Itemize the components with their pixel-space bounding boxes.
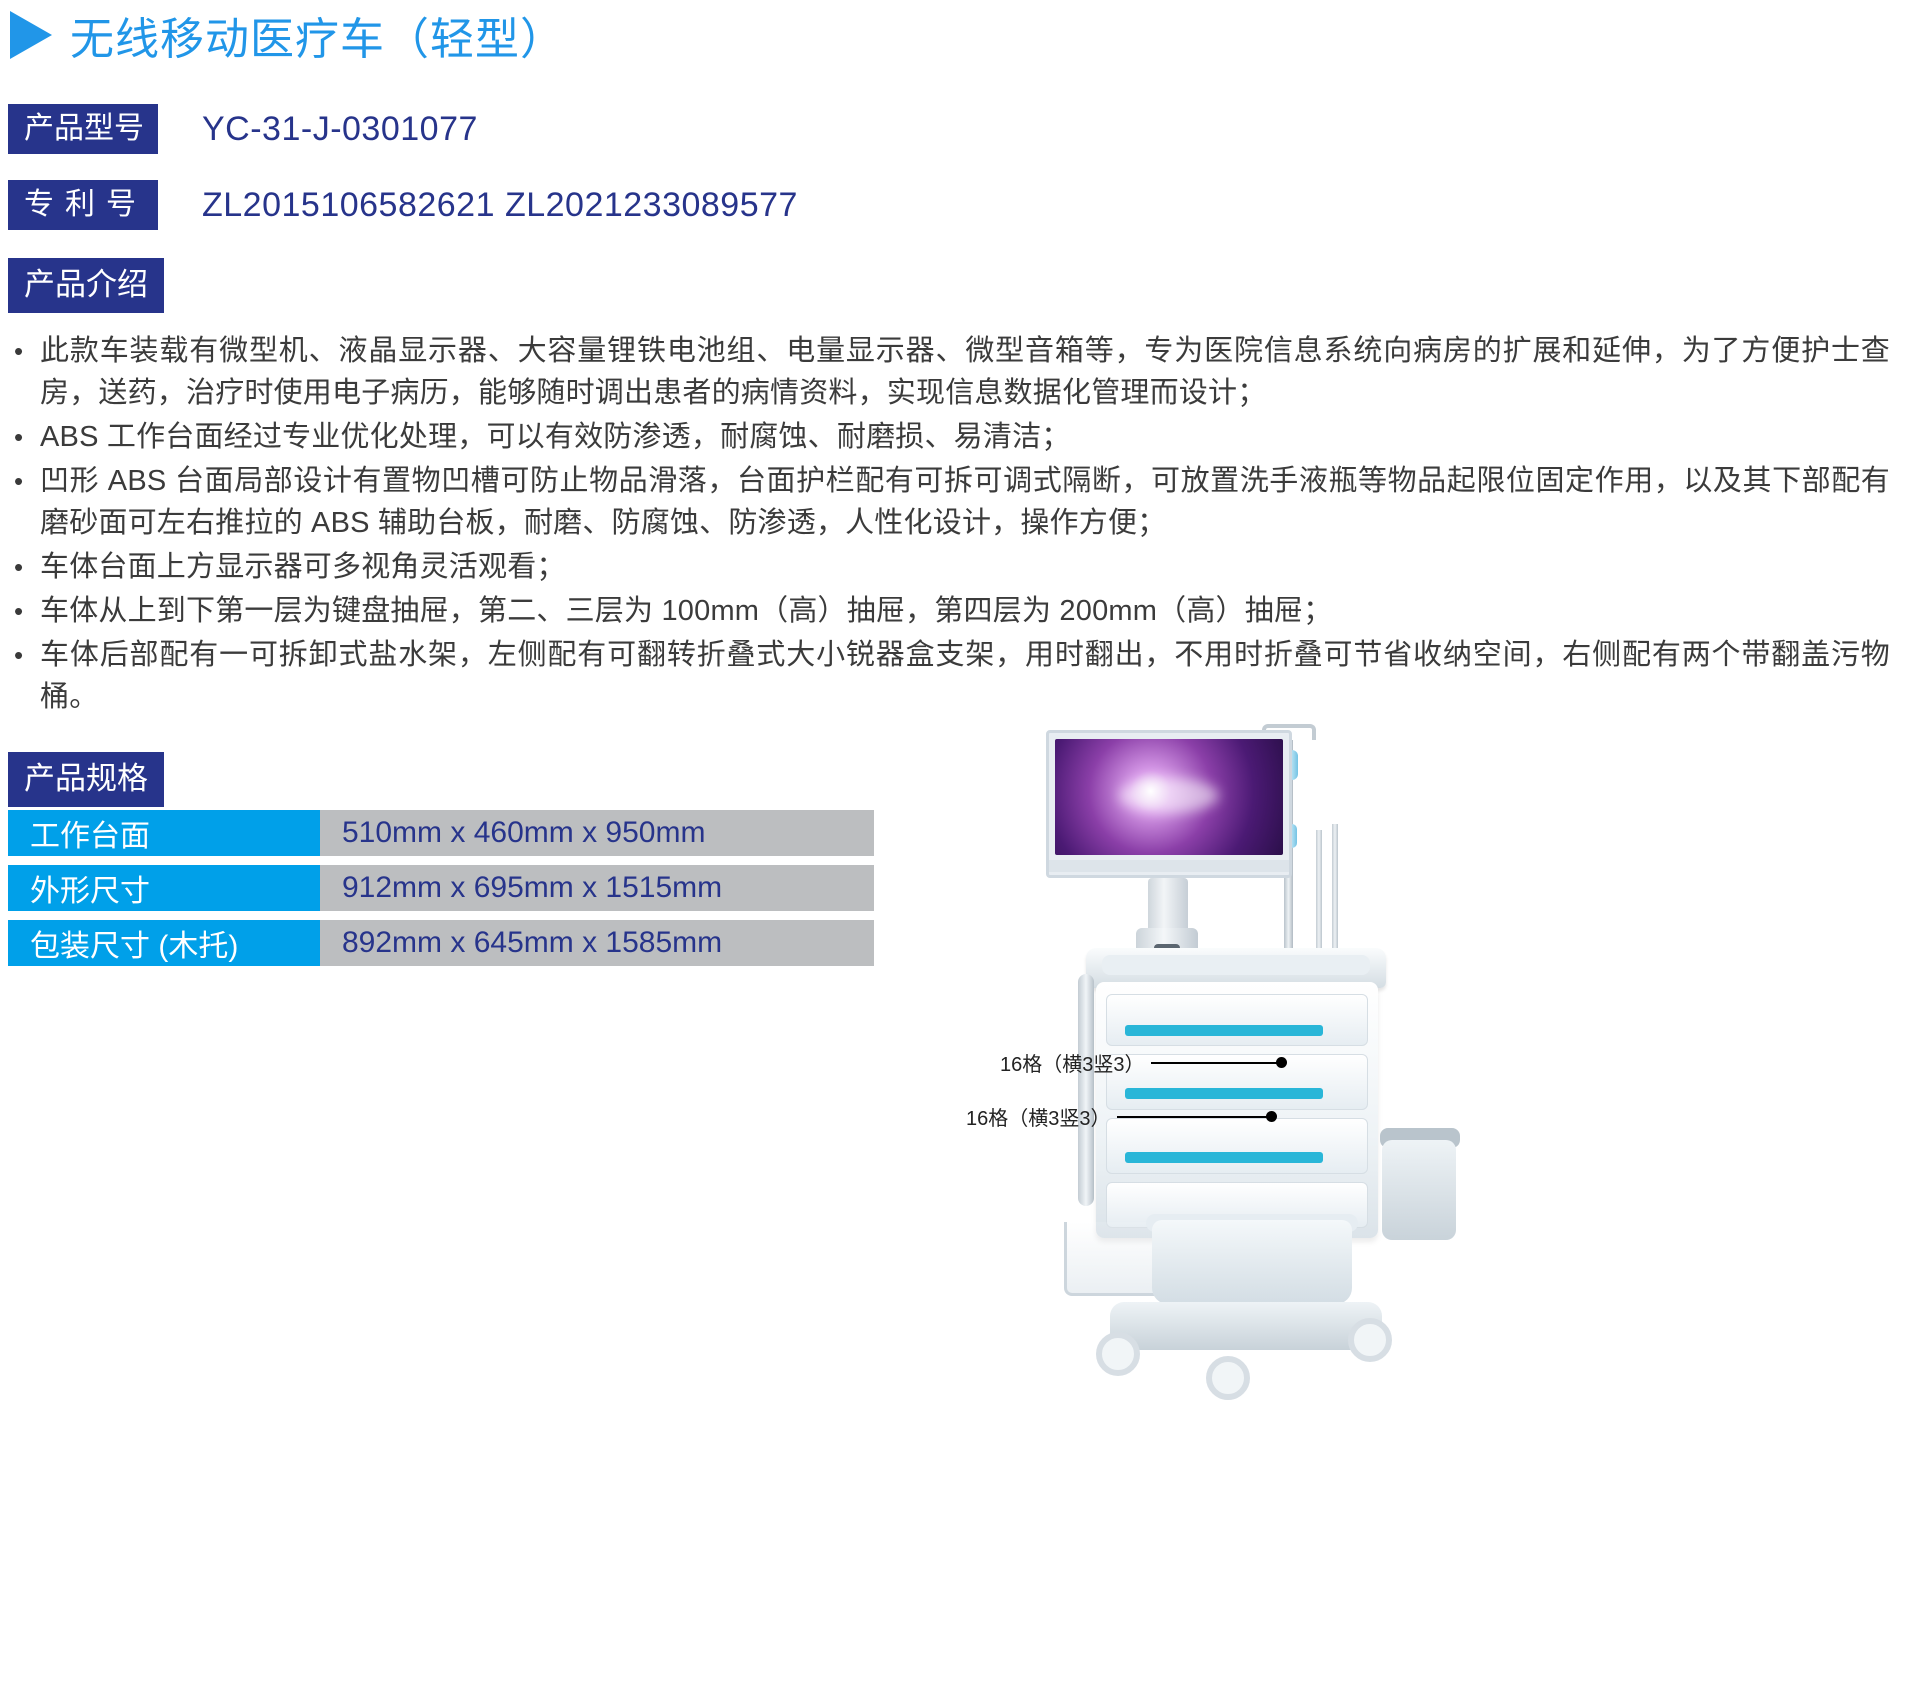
caster-wheel [1348,1318,1392,1362]
spec-key: 包装尺寸 (木托) [8,920,320,966]
drawer-keyboard [1106,994,1368,1046]
drawer-handle [1125,1152,1323,1163]
waste-bin [1382,1140,1456,1240]
bullet-dot-icon: • [10,416,40,458]
spec-value: 892mm x 645mm x 1585mm [320,920,874,966]
callout-lower: 16格（横3竖3） [966,1102,1277,1131]
cart-base [1110,1302,1382,1350]
list-item: • ABS 工作台面经过专业优化处理，可以有效防渗透，耐腐蚀、耐磨损、易清洁； [10,416,1890,458]
intro-bullet-list: • 此款车装载有微型机、液晶显示器、大容量锂铁电池组、电量显示器、微型音箱等，专… [10,330,1890,720]
bullet-dot-icon: • [10,330,40,372]
product-image-area: 16格（横3竖3） 16格（横3竖3） [1000,870,1914,1682]
accessory-pole-2 [1332,824,1338,960]
model-value: YC-31-J-0301077 [202,110,478,149]
callout-leader-line [1151,1062,1277,1064]
table-row: 包装尺寸 (木托) 892mm x 645mm x 1585mm [8,920,874,966]
list-item-text: 车体从上到下第一层为键盘抽屉，第二、三层为 100mm（高）抽屉，第四层为 20… [40,590,1890,632]
bullet-dot-icon: • [10,546,40,588]
monitor-bezel-strip [1049,860,1289,872]
page-title-row: 无线移动医疗车（轻型） [0,0,565,70]
list-item: • 此款车装载有微型机、液晶显示器、大容量锂铁电池组、电量显示器、微型音箱等，专… [10,330,1890,414]
caster-wheel [1096,1332,1140,1376]
storage-tray [1152,1220,1352,1304]
list-item: • 车体后部配有一可拆卸式盐水架，左侧配有可翻转折叠式大小锐器盒支架，用时翻出，… [10,634,1890,718]
drawer-handle [1125,1088,1323,1099]
patent-label-chip: 专利号 [8,180,158,230]
list-item-text: 车体台面上方显示器可多视角灵活观看； [40,546,1890,588]
drawer-handle [1125,1025,1323,1036]
model-row: 产品型号 YC-31-J-0301077 [8,104,478,154]
spec-key: 工作台面 [8,810,320,856]
spec-value: 510mm x 460mm x 950mm [320,810,874,856]
callout-leader-line [1117,1116,1267,1118]
list-item-text: 此款车装载有微型机、液晶显示器、大容量锂铁电池组、电量显示器、微型音箱等，专为医… [40,330,1890,414]
medical-cart-illustration [1000,870,1914,1682]
section-heading-intro: 产品介绍 [8,258,164,313]
side-rail-handle [1078,974,1094,1206]
list-item: • 车体从上到下第一层为键盘抽屉，第二、三层为 100mm（高）抽屉，第四层为 … [10,590,1890,632]
spec-value: 912mm x 695mm x 1515mm [320,865,874,911]
accessory-pole-1 [1316,830,1322,960]
patent-row: 专利号 ZL2015106582621 ZL2021233089577 [8,180,798,230]
model-label-chip: 产品型号 [8,104,158,154]
callout-label: 16格（横3竖3） [966,1102,1111,1131]
callout-label: 16格（横3竖3） [1000,1048,1145,1077]
table-row: 工作台面 510mm x 460mm x 950mm [8,810,874,856]
list-item-text: 凹形 ABS 台面局部设计有置物凹槽可防止物品滑落，台面护栏配有可拆可调式隔断，… [40,460,1890,544]
spec-table: 工作台面 510mm x 460mm x 950mm 外形尺寸 912mm x … [8,810,874,975]
monitor [1046,730,1292,878]
callout-dot-icon [1266,1111,1277,1122]
bullet-dot-icon: • [10,460,40,502]
monitor-screen [1055,739,1283,855]
triangle-arrow-icon [10,11,52,59]
patent-value: ZL2015106582621 ZL2021233089577 [202,186,798,225]
list-item: • 车体台面上方显示器可多视角灵活观看； [10,546,1890,588]
section-heading-spec: 产品规格 [8,752,164,807]
table-row: 外形尺寸 912mm x 695mm x 1515mm [8,865,874,911]
callout-dot-icon [1276,1057,1287,1068]
callout-upper: 16格（横3竖3） [1000,1048,1287,1077]
worktop-recess [1102,955,1370,975]
bullet-dot-icon: • [10,634,40,676]
page-title: 无线移动医疗车（轻型） [70,3,565,67]
spec-key: 外形尺寸 [8,865,320,911]
caster-wheel [1206,1356,1250,1400]
list-item-text: 车体后部配有一可拆卸式盐水架，左侧配有可翻转折叠式大小锐器盒支架，用时翻出，不用… [40,634,1890,718]
bullet-dot-icon: • [10,590,40,632]
list-item: • 凹形 ABS 台面局部设计有置物凹槽可防止物品滑落，台面护栏配有可拆可调式隔… [10,460,1890,544]
list-item-text: ABS 工作台面经过专业优化处理，可以有效防渗透，耐腐蚀、耐磨损、易清洁； [40,416,1890,458]
